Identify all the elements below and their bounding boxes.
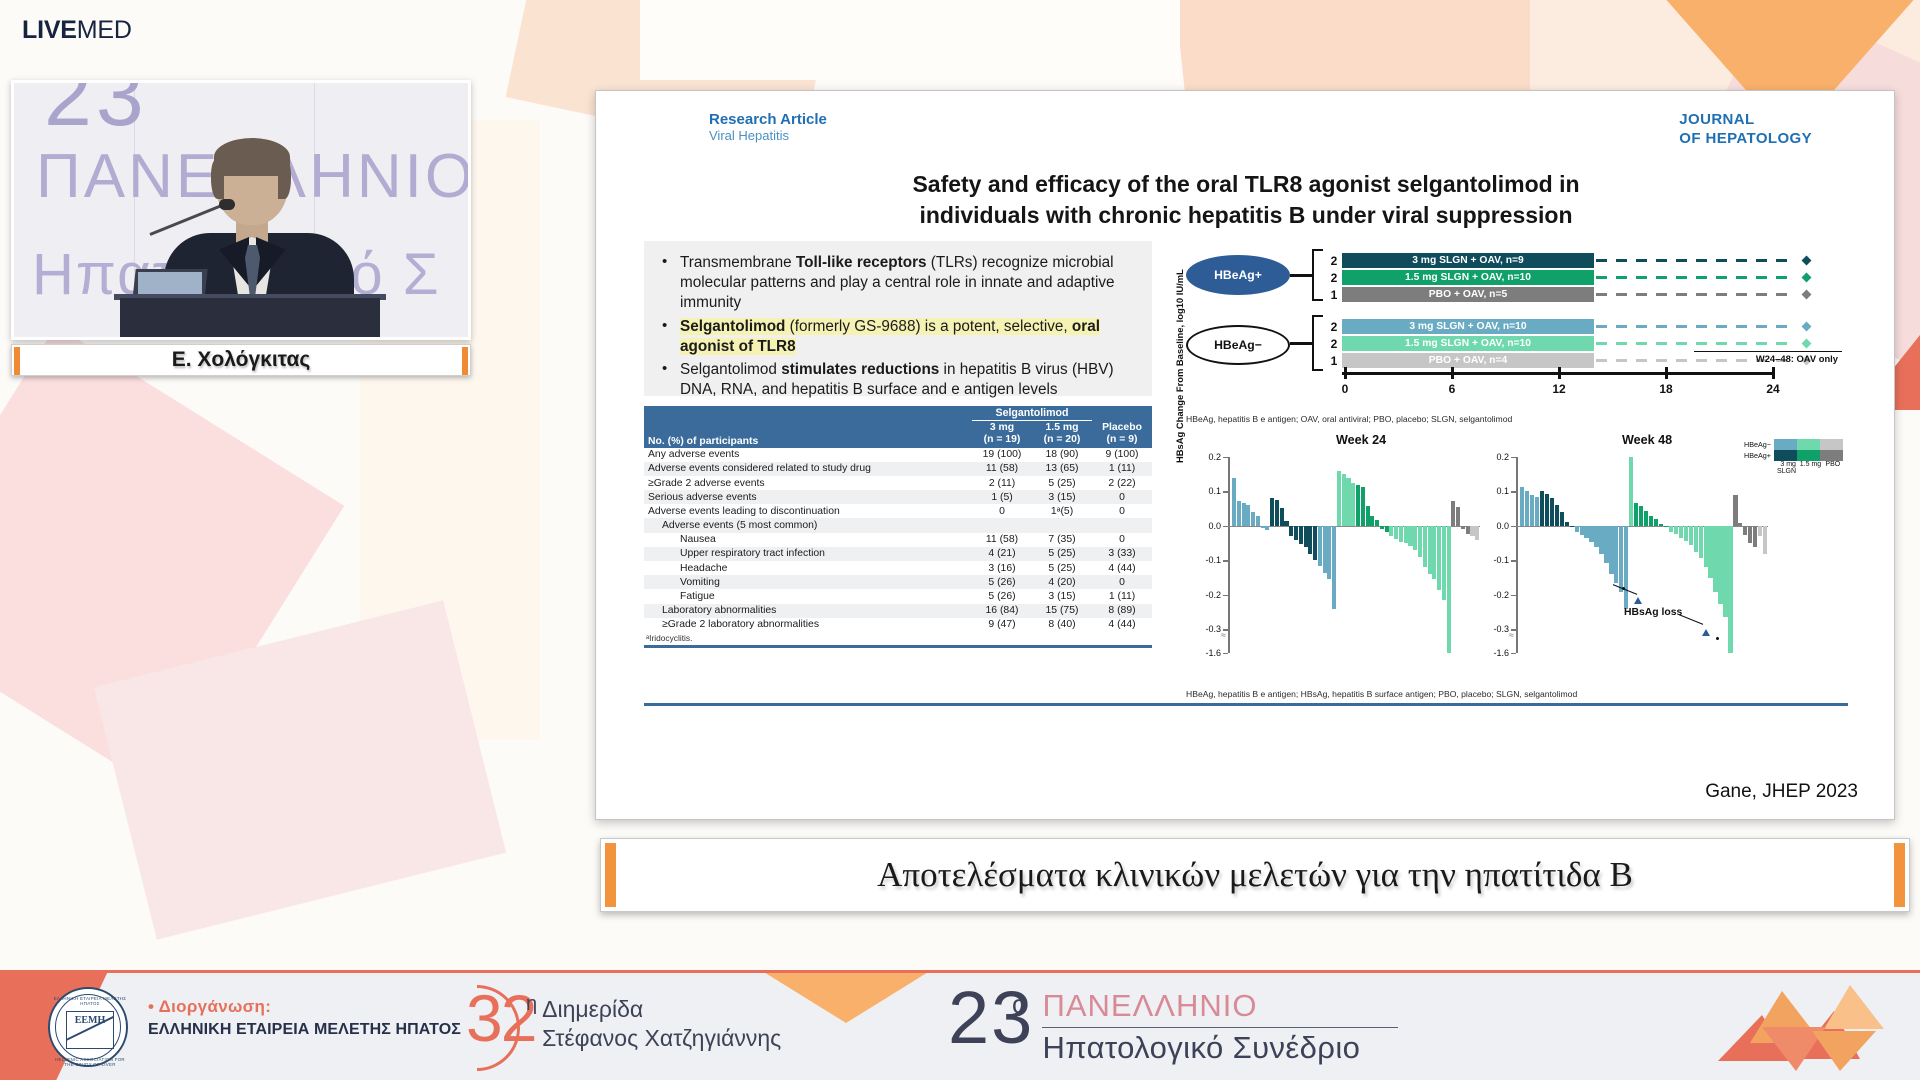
- event-footer: ΕΛΛΗΝΙΚΗ ΕΤΑΙΡΕΙΑ ΜΕΛΕΤΗΣ ΗΠΑΤΟΣ ΕΕΜΗ HE…: [0, 970, 1920, 1080]
- table-cell-value: 4 (20): [1032, 575, 1092, 589]
- slide-content: Research Article Viral Hepatitis JOURNAL…: [595, 90, 1895, 820]
- chart-y-tick-label: -0.3: [1205, 624, 1221, 634]
- chart-bar: [1385, 526, 1389, 532]
- table-cell-label: Adverse events leading to discontinuatio…: [644, 504, 972, 518]
- legend-swatch: [1797, 450, 1820, 461]
- chart-y-tick-label: -0.3: [1493, 624, 1509, 634]
- chart-legend: HBeAg−HBeAg+3 mg1.5 mgPBOSLGN: [1740, 439, 1844, 475]
- chart-bar: [1580, 526, 1584, 535]
- column-dose: 1.5 mg: [1036, 422, 1088, 434]
- table-cell-value: 8 (89): [1092, 604, 1152, 618]
- arm-followup-dashline: [1594, 270, 1812, 285]
- treatment-arm-row: 21.5 mg SLGN + OAV, n=10: [1326, 335, 1812, 352]
- annotation-arrow-icon: [1679, 614, 1703, 625]
- presentation-screen: LIVEMED 23 ΠΑΝΕΛΛΗΝΙΟ Ηπατολογικό Σ Ε. Χ…: [0, 0, 1920, 1080]
- chart-bar: [1753, 526, 1757, 547]
- table-cell-label: Nausea: [644, 533, 972, 547]
- study-design-diagram: HBeAg+ HBeAg− 23 mg SLGN + OAV, n=921.5 …: [1186, 241, 1848, 406]
- table-cell-value: 9 (47): [972, 618, 1032, 632]
- column-n: (n = 19): [976, 434, 1028, 446]
- legend-swatch: [1774, 439, 1797, 450]
- dash-segments: [1596, 259, 1792, 262]
- table-row-label-header: No. (%) of participants: [644, 421, 972, 448]
- table-column-header-row: No. (%) of participants3 mg(n = 19)1.5 m…: [644, 421, 1152, 448]
- table-cell-value: 5 (25): [1032, 476, 1092, 490]
- chart-bar: [1356, 485, 1360, 526]
- chart-y-tick-label: 0.2: [1496, 452, 1509, 462]
- chart-bar: [1565, 522, 1569, 526]
- chart-bar: [1475, 526, 1479, 540]
- article-section-label: Viral Hepatitis: [709, 128, 827, 144]
- chart-bar: [1599, 526, 1603, 554]
- laptop-screen: [138, 272, 202, 296]
- chart-bar: [1758, 526, 1762, 536]
- arm-bar: PBO + OAV, n=4: [1342, 353, 1594, 368]
- journal-article-header: Research Article Viral Hepatitis: [709, 111, 827, 144]
- table-cell-value: [1092, 518, 1152, 532]
- table-column-header: 1.5 mg(n = 20): [1032, 421, 1092, 448]
- chart-bar: [1337, 471, 1341, 526]
- chart-bar: [1694, 526, 1698, 552]
- chart-y-tick: [1511, 457, 1516, 458]
- bullet-list: Transmembrane Toll-like receptors (TLRs)…: [662, 253, 1138, 400]
- chart-bar: [1342, 474, 1346, 526]
- event-32-block: 32 η Διημερίδα Στέφανος Χατζηγιάννης: [466, 987, 781, 1052]
- paper-title-line-1: Safety and efficacy of the oral TLR8 ago…: [696, 169, 1796, 200]
- brace-stem-bottom: [1290, 342, 1314, 345]
- adverse-events-table: Selgantolimod No. (%) of participants3 m…: [644, 406, 1152, 632]
- endpoint-diamond-icon: [1802, 273, 1812, 283]
- chart-bar: [1589, 526, 1593, 542]
- table-footnote: ᵃIridocyclitis.: [646, 633, 692, 643]
- column-dose: 3 mg: [976, 422, 1028, 434]
- chart-bar: [1251, 512, 1255, 526]
- dash-segments: [1596, 325, 1792, 328]
- background-shape-white: [640, 0, 1180, 80]
- chart-y-tick: [1223, 560, 1228, 561]
- table-cell-value: 0: [972, 504, 1032, 518]
- treatment-arm-row: 21.5 mg SLGN + OAV, n=10: [1326, 269, 1812, 286]
- arm-followup-dashline: [1594, 287, 1812, 302]
- chart-bar: [1659, 524, 1663, 526]
- arm-period-number: 2: [1326, 320, 1342, 334]
- chart-bar: [1428, 526, 1432, 574]
- timeline-tick-label: 24: [1766, 382, 1779, 396]
- table-cell-value: 11 (58): [972, 533, 1032, 547]
- background-shape-pink-2: [94, 600, 506, 939]
- arm-bar: 1.5 mg SLGN + OAV, n=10: [1342, 270, 1594, 285]
- column-dose: Placebo: [1096, 422, 1148, 434]
- dash-segments: [1596, 342, 1792, 345]
- chart-bar: [1530, 495, 1534, 526]
- organizer-label: • Διοργάνωση:: [148, 997, 461, 1017]
- chart-bar: [1604, 526, 1608, 563]
- chart-bar: [1470, 526, 1474, 536]
- table-cell-value: 4 (21): [972, 547, 1032, 561]
- speaker-video-panel[interactable]: 23 ΠΑΝΕΛΛΗΝΙΟ Ηπατολογικό Σ: [11, 80, 471, 340]
- table-group-header-row: Selgantolimod: [644, 406, 1152, 421]
- table-cell-value: 16 (84): [972, 604, 1032, 618]
- chart-bar: [1674, 526, 1678, 534]
- group-header-selgantolimod: Selgantolimod: [972, 406, 1092, 421]
- podium: [120, 298, 380, 340]
- chart-bar: [1442, 526, 1446, 600]
- table-cell-label: Vomiting: [644, 575, 972, 589]
- chart-bar: [1375, 520, 1379, 526]
- chart-bar: [1289, 526, 1293, 536]
- brace-stem-top: [1290, 274, 1314, 277]
- group-oval-hbeag-negative: HBeAg−: [1186, 325, 1290, 365]
- chart-y-tick: [1223, 491, 1228, 492]
- liver-facet: [1812, 1031, 1876, 1071]
- event-32-ordinal: η: [526, 993, 537, 1016]
- event-23-block: 23 ο ΠΑΝΕΛΛΗΝΙΟ Ηπατολογικό Συνέδριο: [948, 983, 1398, 1066]
- chart-bar: [1299, 526, 1303, 544]
- adverse-events-table-body: Any adverse events19 (100)18 (90)9 (100)…: [644, 448, 1152, 632]
- chart-y-tick-label: 0.0: [1208, 521, 1221, 531]
- chart-bar: [1308, 526, 1312, 554]
- table-cell-label: Adverse events considered related to stu…: [644, 462, 972, 476]
- chart-y-axis-label: HBsAg Change From Baseline, log10 IU/mL: [1174, 269, 1185, 463]
- chart-y-tick: [1511, 560, 1516, 561]
- table-row: ≥Grade 2 laboratory abnormalities9 (47)8…: [644, 618, 1152, 632]
- chart-bar: [1619, 526, 1623, 592]
- table-cell-value: [1032, 518, 1092, 532]
- table-cell-value: 5 (26): [972, 575, 1032, 589]
- table-row: Nausea11 (58)7 (35)0: [644, 533, 1152, 547]
- event-32-line-2: Στέφανος Χατζηγιάννης: [542, 1024, 781, 1053]
- legend-row: HBeAg−: [1740, 439, 1844, 450]
- chart-bar: [1404, 526, 1408, 543]
- chart-bar: [1649, 516, 1653, 526]
- logo-arc-text-top: ΕΛΛΗΝΙΚΗ ΕΤΑΙΡΕΙΑ ΜΕΛΕΤΗΣ ΗΠΑΤΟΣ: [50, 996, 130, 1006]
- table-cell-value: 4 (44): [1092, 618, 1152, 632]
- presenter-hair-left: [211, 159, 224, 199]
- journal-word-1: JOURNAL: [1679, 111, 1812, 130]
- arm-bar: 3 mg SLGN + OAV, n=9: [1342, 253, 1594, 268]
- chart-bar: [1704, 526, 1708, 567]
- organizer-name: ΕΛΛΗΝΙΚΗ ΕΤΑΙΡΕΙΑ ΜΕΛΕΤΗΣ ΗΠΑΤΟΣ: [148, 1021, 461, 1039]
- chart-bar: [1748, 526, 1752, 543]
- paper-title-line-2: individuals with chronic hepatitis B und…: [696, 200, 1796, 231]
- chart-bar: [1639, 506, 1643, 526]
- chart-bar: [1313, 526, 1317, 560]
- chart-bar: [1466, 526, 1470, 534]
- chart-bar: [1456, 507, 1460, 526]
- chart-y-tick: [1511, 526, 1516, 527]
- chart-y-tick-label: 0.1: [1208, 486, 1221, 496]
- bullet-item: Transmembrane Toll-like receptors (TLRs)…: [662, 253, 1138, 313]
- timeline-tick-label: 12: [1552, 382, 1565, 396]
- chart-bar: [1351, 483, 1355, 526]
- table-row: Fatigue5 (26)3 (15)1 (11): [644, 589, 1152, 603]
- chart-bar: [1679, 526, 1683, 538]
- treatment-arm-row: 23 mg SLGN + OAV, n=9: [1326, 252, 1812, 269]
- logo-arc-text-bottom: HELLENIC ASSOCIATION FOR THE STUDY OF LI…: [50, 1057, 130, 1067]
- legend-swatch: [1820, 439, 1843, 450]
- waterfall-charts: HBsAg Change From Baseline, log10 IU/mL …: [1186, 433, 1848, 683]
- table-cell-value: 15 (75): [1032, 604, 1092, 618]
- chart-bar: [1664, 526, 1668, 527]
- chart-bar: [1284, 521, 1288, 526]
- table-row: Laboratory abnormalities16 (84)15 (75)8 …: [644, 604, 1152, 618]
- table-cell-value: 13 (65): [1032, 462, 1092, 476]
- microphone-icon: [219, 199, 235, 210]
- timeline-tick: [1772, 367, 1775, 379]
- table-cell-value: 1 (11): [1092, 589, 1152, 603]
- chart-bar: [1270, 498, 1274, 526]
- chart-bar: [1708, 526, 1712, 578]
- chart-bar: [1644, 511, 1648, 526]
- arm-period-number: 2: [1326, 337, 1342, 351]
- spacer-cell: [644, 406, 972, 421]
- table-cell-value: 2 (11): [972, 476, 1032, 490]
- event-32-number: 32: [466, 987, 526, 1050]
- chart-bar: [1634, 503, 1638, 526]
- chart-bar: [1629, 457, 1633, 526]
- endpoint-diamond-icon: [1802, 322, 1812, 332]
- chart-bar: [1432, 526, 1436, 579]
- chart-bar: [1575, 526, 1579, 532]
- chart-bar: [1689, 526, 1693, 545]
- event-32-text: Διημερίδα Στέφανος Χατζηγιάννης: [542, 995, 781, 1052]
- chart-bar: [1366, 506, 1370, 526]
- chart-y-tick: [1223, 526, 1228, 527]
- spacer-cell: [1092, 406, 1152, 421]
- liver-decoration-art: [1702, 981, 1902, 1077]
- dash-segments: [1596, 276, 1792, 279]
- chart-bar: [1669, 526, 1673, 532]
- chart-bar: [1294, 526, 1298, 540]
- table-row: Serious adverse events1 (5)3 (15)0: [644, 490, 1152, 504]
- event-32-line-1: Διημερίδα: [542, 995, 781, 1024]
- chart-bar: [1699, 526, 1703, 558]
- bullet-text: Transmembrane Toll-like receptors (TLRs)…: [680, 254, 1115, 311]
- article-type-label: Research Article: [709, 111, 827, 128]
- chart-bar: [1723, 526, 1727, 617]
- logo-med-text: MED: [77, 16, 132, 44]
- arm-bar: 1.5 mg SLGN + OAV, n=10: [1342, 336, 1594, 351]
- table-cell-value: 3 (16): [972, 561, 1032, 575]
- table-cell-value: 0: [1092, 504, 1152, 518]
- chart-bar: [1570, 526, 1574, 527]
- paper-title: Safety and efficacy of the oral TLR8 ago…: [696, 169, 1796, 231]
- bullet-emphasis: stimulates reductions: [781, 361, 939, 378]
- chart-bar: [1763, 526, 1767, 554]
- chart-bar: [1327, 526, 1331, 579]
- table-cell-value: 1 (11): [1092, 462, 1152, 476]
- chart-y-tick: [1223, 457, 1228, 458]
- slide-bottom-rule: [644, 703, 1848, 706]
- table-cell-value: 3 (33): [1092, 547, 1152, 561]
- background-shape-pink-1: [0, 326, 344, 795]
- event-23-number: 23: [948, 983, 1008, 1053]
- timeline-tick: [1344, 367, 1347, 379]
- table-cell-value: 19 (100): [972, 448, 1032, 462]
- chart-title-week-24: Week 24: [1336, 433, 1386, 447]
- arm-followup-dashline: [1594, 253, 1812, 268]
- arm-bar: 3 mg SLGN + OAV, n=10: [1342, 319, 1594, 334]
- session-caption-text: Αποτελέσματα κλινικών μελετών για την ηπ…: [877, 855, 1633, 895]
- table-cell-value: 18 (90): [1032, 448, 1092, 462]
- logo-acronym-text: ΕΕΜΗ: [50, 1015, 130, 1026]
- chart-bar: [1261, 526, 1265, 528]
- chart-bar: [1246, 505, 1250, 526]
- chart-y-tick-label: -1.6: [1205, 648, 1221, 658]
- legend-column-label: PBO: [1822, 461, 1844, 468]
- table-cell-value: 3 (15): [1032, 589, 1092, 603]
- chart-y-tick-label: 0.2: [1208, 452, 1221, 462]
- chart-bar: [1461, 526, 1465, 529]
- hbsag-loss-marker-icon: [1634, 597, 1642, 604]
- table-row: ≥Grade 2 adverse events2 (11)5 (25)2 (22…: [644, 476, 1152, 490]
- chart-bar: [1280, 508, 1284, 526]
- chart-bar: [1609, 526, 1613, 574]
- chart-bar: [1684, 526, 1688, 541]
- presenter-hair-right: [278, 159, 291, 199]
- chart-bar: [1318, 526, 1322, 566]
- table-cell-value: 5 (26): [972, 589, 1032, 603]
- table-row: Upper respiratory tract infection4 (21)5…: [644, 547, 1152, 561]
- table-row: Vomiting5 (26)4 (20)0: [644, 575, 1152, 589]
- table-cell-label: Laboratory abnormalities: [644, 604, 972, 618]
- table-row: Adverse events leading to discontinuatio…: [644, 504, 1152, 518]
- study-design-footnote: HBeAg, hepatitis B e antigen; OAV, oral …: [1186, 414, 1512, 424]
- timeline-tick: [1665, 367, 1668, 379]
- table-row: Adverse events considered related to stu…: [644, 462, 1152, 476]
- data-dot-marker: [1622, 587, 1625, 590]
- table-cell-value: 1ᵃ(5): [1032, 504, 1092, 518]
- chart-y-axis: [1228, 457, 1230, 653]
- table-cell-value: 4 (44): [1092, 561, 1152, 575]
- arm-period-number: 1: [1326, 354, 1342, 368]
- chart-bar: [1394, 526, 1398, 539]
- table-cell-value: 3 (15): [1032, 490, 1092, 504]
- chart-week-48: 0.20.10.0-0.1-0.2-0.3-1.6≈HBsAg loss: [1516, 457, 1778, 657]
- legend-column-label: 3 mg: [1777, 461, 1799, 468]
- event-23-ordinal: ο: [1012, 989, 1026, 1020]
- column-n: (n = 9): [1096, 434, 1148, 446]
- arm-period-number: 1: [1326, 288, 1342, 302]
- bullet-panel: Transmembrane Toll-like receptors (TLRs)…: [644, 241, 1152, 396]
- chart-bar: [1275, 500, 1279, 526]
- chart-bar: [1733, 495, 1737, 526]
- group-oval-hbeag-positive: HBeAg+: [1186, 255, 1290, 295]
- table-cell-value: [972, 518, 1032, 532]
- chart-bar: [1380, 526, 1384, 529]
- table-cell-value: 0: [1092, 490, 1152, 504]
- table-column-header: 3 mg(n = 19): [972, 421, 1032, 448]
- legend-swatch: [1797, 439, 1820, 450]
- brace-top: [1312, 249, 1323, 301]
- chart-y-tick-label: 0.1: [1496, 486, 1509, 496]
- chart-y-tick-label: 0.0: [1496, 521, 1509, 531]
- chart-bar: [1423, 526, 1427, 567]
- chart-bar: [1525, 491, 1529, 526]
- chart-bar: [1237, 501, 1241, 526]
- table-cell-value: 0: [1092, 575, 1152, 589]
- chart-bar: [1545, 494, 1549, 526]
- chart-bar: [1584, 526, 1588, 538]
- chart-bar: [1738, 523, 1742, 526]
- legend-group-label: SLGN: [1740, 468, 1786, 475]
- arm-followup-dashline: [1594, 336, 1812, 351]
- table-cell-value: 1 (5): [972, 490, 1032, 504]
- table-cell-label: Upper respiratory tract infection: [644, 547, 972, 561]
- chart-axis-break-icon: ≈: [1509, 630, 1514, 640]
- chart-bar: [1256, 516, 1260, 526]
- table-cell-label: Headache: [644, 561, 972, 575]
- chart-y-tick-label: -1.6: [1493, 648, 1509, 658]
- chart-axis-break-icon: ≈: [1221, 630, 1226, 640]
- bullet-text: Selgantolimod stimulates reductions in h…: [680, 361, 1114, 398]
- chart-bar: [1242, 503, 1246, 526]
- bullet-emphasis: Selgantolimod: [680, 318, 785, 335]
- column-n: (n = 20): [1036, 434, 1088, 446]
- chart-bar: [1520, 487, 1524, 526]
- legend-swatch: [1820, 450, 1843, 461]
- event-23-divider: [1042, 1027, 1398, 1028]
- table-cell-label: Adverse events (5 most common): [644, 518, 972, 532]
- bullet-item: Selgantolimod stimulates reductions in h…: [662, 360, 1138, 400]
- chart-bar: [1332, 526, 1336, 609]
- logo-live-text: LIVE: [22, 16, 77, 44]
- chart-bar: [1624, 526, 1628, 609]
- chart-bar: [1555, 505, 1559, 526]
- table-cell-value: 9 (100): [1092, 448, 1152, 462]
- chart-y-tick-label: -0.2: [1205, 590, 1221, 600]
- bullet-span: Transmembrane: [680, 254, 796, 271]
- table-row: Adverse events (5 most common): [644, 518, 1152, 532]
- chart-y-tick: [1223, 653, 1228, 654]
- organizer-block: • Διοργάνωση: ΕΛΛΗΝΙΚΗ ΕΤΑΙΡΕΙΑ ΜΕΛΕΤΗΣ …: [148, 997, 461, 1039]
- legend-swatch: [1774, 450, 1797, 461]
- table-bottom-rule: [644, 645, 1152, 648]
- chart-y-tick: [1223, 595, 1228, 596]
- citation-text: Gane, JHEP 2023: [1705, 781, 1858, 803]
- chart-bar: [1594, 526, 1598, 547]
- arm-period-number: 2: [1326, 254, 1342, 268]
- chart-bar: [1743, 526, 1747, 535]
- speaker-name-bar: Ε. Χολόγκιτας: [11, 344, 471, 376]
- endpoint-diamond-icon: [1802, 290, 1812, 300]
- chart-bar: [1413, 526, 1417, 550]
- chart-bar: [1346, 478, 1350, 526]
- chart-bar: [1654, 519, 1658, 526]
- event-23-line-2: Ηπατολογικό Συνέδριο: [1042, 1031, 1398, 1065]
- table-cell-label: ≥Grade 2 laboratory abnormalities: [644, 618, 972, 632]
- table-column-header: Placebo(n = 9): [1092, 421, 1152, 448]
- chart-bar: [1418, 526, 1422, 557]
- table-cell-value: 8 (40): [1032, 618, 1092, 632]
- chart-week-24: 0.20.10.0-0.1-0.2-0.3-1.6≈: [1228, 457, 1490, 657]
- chart-bar: [1323, 526, 1327, 573]
- table-cell-value: 11 (58): [972, 462, 1032, 476]
- bullet-text: Selgantolimod (formerly GS-9688) is a po…: [680, 318, 1100, 355]
- chart-y-tick-label: -0.1: [1493, 555, 1509, 565]
- eemh-society-logo: ΕΛΛΗΝΙΚΗ ΕΤΑΙΡΕΙΑ ΜΕΛΕΤΗΣ ΗΠΑΤΟΣ ΕΕΜΗ HE…: [48, 987, 128, 1067]
- bullet-span: Selgantolimod: [680, 361, 781, 378]
- timeline-tick-label: 6: [1449, 382, 1456, 396]
- endpoint-diamond-icon: [1802, 256, 1812, 266]
- chart-bar: [1408, 526, 1412, 546]
- table-cell-value: 5 (25): [1032, 547, 1092, 561]
- arm-period-number: 2: [1326, 271, 1342, 285]
- chart-title-week-48: Week 48: [1622, 433, 1672, 447]
- table-row: Headache3 (16)5 (25)4 (44): [644, 561, 1152, 575]
- legend-row: HBeAg+: [1740, 450, 1844, 461]
- table-cell-value: 0: [1092, 533, 1152, 547]
